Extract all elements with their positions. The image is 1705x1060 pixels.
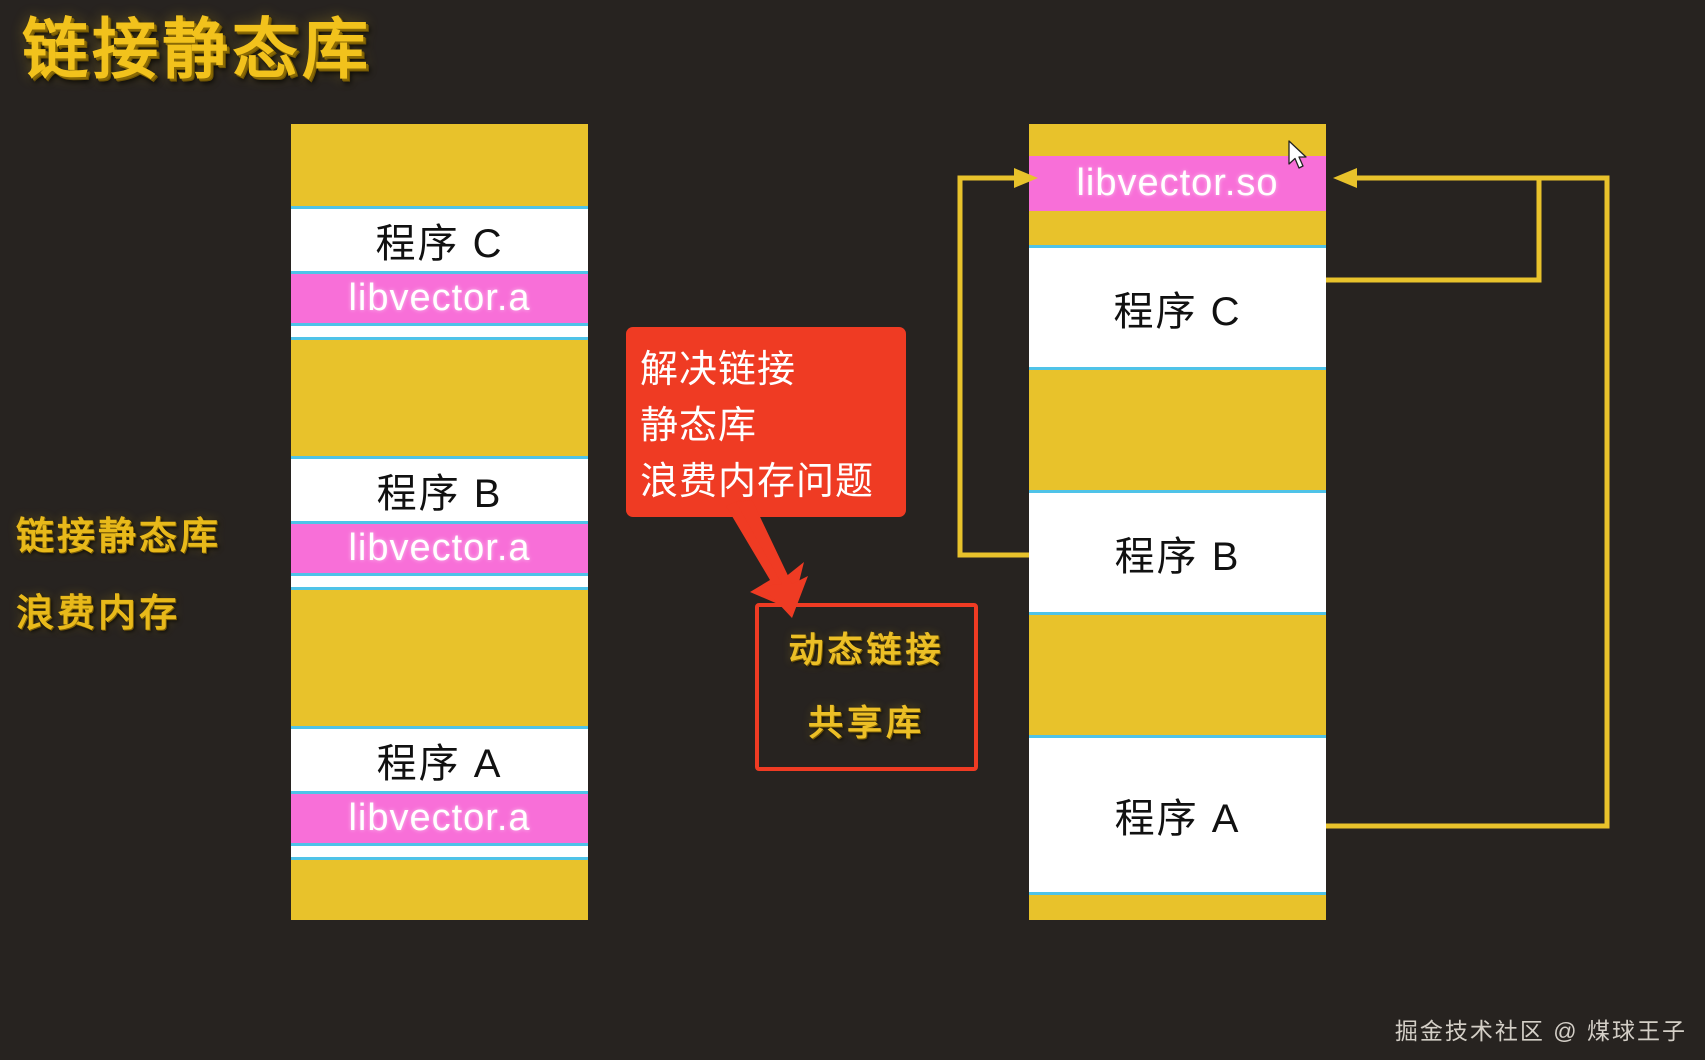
memory-gap-block: [1029, 211, 1326, 245]
slide-canvas: 链接静态库 链接静态库 浪费内存 程序 C libvector.a 程序 B l…: [0, 0, 1705, 1060]
program-block-b: 程序 B: [1029, 490, 1326, 615]
connector-arrow-right-short: [1326, 178, 1539, 280]
program-block-a: 程序 A: [1029, 735, 1326, 895]
memory-gap-block: [291, 124, 588, 206]
library-block-c: libvector.a: [291, 274, 588, 323]
callout-arrow-icon: [722, 500, 832, 620]
library-block-b: libvector.a: [291, 524, 588, 573]
dynamic-link-line-1: 动态链接: [788, 633, 944, 668]
callout-line-3: 浪费内存问题: [640, 455, 906, 511]
program-block-label: 程序 B: [377, 461, 503, 519]
page-title: 链接静态库: [22, 18, 372, 84]
library-block-label: libvector.a: [348, 527, 530, 570]
program-block-c-tail: [291, 323, 588, 340]
program-block-label: 程序 A: [377, 731, 503, 789]
callout-line-2: 静态库: [640, 399, 906, 455]
program-block-a-tail: [291, 843, 588, 860]
program-block-a: 程序 A: [291, 726, 588, 794]
program-block-c: 程序 C: [1029, 245, 1326, 370]
dynamic-link-memory-column: libvector.so 程序 C 程序 B 程序 A: [1029, 124, 1326, 920]
shared-library-block: libvector.so: [1029, 156, 1326, 211]
program-block-label: 程序 C: [376, 211, 504, 269]
program-block-b-tail: [291, 573, 588, 590]
memory-gap-block: [1029, 895, 1326, 920]
program-block-b: 程序 B: [291, 456, 588, 524]
program-block-c: 程序 C: [291, 206, 588, 274]
side-annotation-line-2: 浪费内存: [16, 589, 286, 640]
side-annotation-line-1: 链接静态库: [16, 512, 286, 563]
connector-arrow-left: [960, 178, 1029, 555]
program-block-label: 程序 B: [1115, 524, 1241, 582]
callout-box: 解决链接 静态库 浪费内存问题: [626, 327, 906, 517]
callout-line-1: 解决链接: [640, 343, 906, 399]
memory-gap-block: [1029, 370, 1326, 490]
library-block-label: libvector.a: [348, 797, 530, 840]
memory-gap-block: [1029, 615, 1326, 735]
memory-gap-block: [291, 590, 588, 726]
dynamic-link-box: 动态链接 共享库: [755, 603, 978, 771]
memory-gap-block: [291, 860, 588, 920]
library-block-label: libvector.a: [348, 277, 530, 320]
program-block-label: 程序 A: [1115, 786, 1241, 844]
shared-library-label: libvector.so: [1076, 162, 1278, 205]
connector-arrow-right-long: [1326, 178, 1607, 826]
side-annotation: 链接静态库 浪费内存: [16, 512, 286, 667]
library-block-a: libvector.a: [291, 794, 588, 843]
watermark: 掘金技术社区 @ 煤球王子: [1395, 1012, 1687, 1046]
program-block-label: 程序 C: [1114, 279, 1242, 337]
memory-gap-block: [291, 340, 588, 456]
memory-gap-block: [1029, 124, 1326, 156]
dynamic-link-line-2: 共享库: [808, 706, 925, 741]
static-link-memory-column: 程序 C libvector.a 程序 B libvector.a 程序 A l…: [291, 124, 588, 920]
arrowhead-right-short-icon: [1333, 168, 1357, 188]
